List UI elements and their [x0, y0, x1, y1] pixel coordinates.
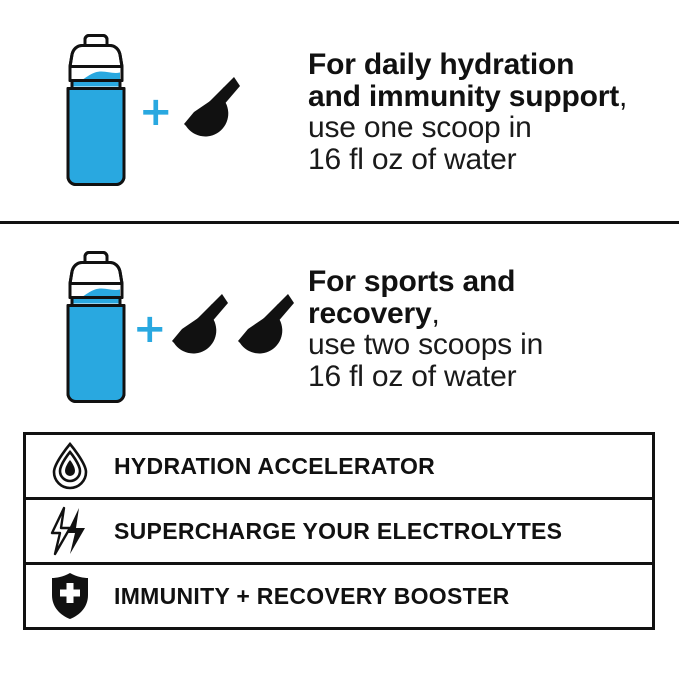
usage-headline-line-1: For daily hydration	[308, 49, 679, 81]
usage-text-group: For daily hydration and immunity support…	[300, 49, 679, 175]
usage-instruction-row-daily: + For daily hydration and immunity suppo…	[0, 18, 679, 206]
feature-benefits-box: HYDRATION ACCELERATOR SUPERCHARGE YOUR E…	[23, 432, 655, 630]
scoop-icon-group	[166, 292, 294, 366]
usage-headline-punctuation: ,	[619, 80, 627, 113]
plus-icon: +	[139, 92, 173, 132]
shield-cross-icon	[26, 571, 114, 621]
usage-headline-line-2-text: and immunity support	[308, 80, 619, 113]
usage-headline-line-2: and immunity support,	[308, 81, 679, 113]
usage-detail-line-1: use one scoop in	[308, 112, 679, 144]
usage-visual-group: +	[0, 18, 300, 206]
lightning-bolt-icon	[26, 506, 114, 556]
scoop-icon	[232, 292, 294, 366]
usage-headline-line-2: recovery,	[308, 298, 679, 330]
plus-icon: +	[133, 309, 167, 349]
feature-label: SUPERCHARGE YOUR ELECTROLYTES	[114, 518, 562, 545]
scoop-icon	[178, 75, 240, 149]
feature-row-hydration: HYDRATION ACCELERATOR	[26, 435, 652, 500]
feature-label: IMMUNITY + RECOVERY BOOSTER	[114, 583, 510, 610]
water-drop-icon	[26, 441, 114, 491]
usage-detail-line-2: 16 fl oz of water	[308, 144, 679, 176]
usage-headline-line-1: For sports and	[308, 266, 679, 298]
feature-row-immunity: IMMUNITY + RECOVERY BOOSTER	[26, 565, 652, 627]
usage-detail-line-1: use two scoops in	[308, 329, 679, 361]
usage-instruction-row-sports: + For sports and recovery, use two scoop…	[0, 238, 679, 420]
feature-row-electrolytes: SUPERCHARGE YOUR ELECTROLYTES	[26, 500, 652, 565]
usage-text-group: For sports and recovery, use two scoops …	[300, 266, 679, 392]
usage-headline-line-2-text: recovery	[308, 297, 432, 330]
scoop-icon-group	[178, 75, 240, 149]
scoop-icon	[166, 292, 228, 366]
water-bottle-icon	[60, 31, 132, 194]
usage-detail-line-2: 16 fl oz of water	[308, 361, 679, 393]
water-bottle-icon	[60, 248, 132, 411]
usage-headline-punctuation: ,	[432, 297, 440, 330]
usage-visual-group: +	[0, 238, 300, 420]
section-divider	[0, 221, 679, 224]
feature-label: HYDRATION ACCELERATOR	[114, 453, 435, 480]
